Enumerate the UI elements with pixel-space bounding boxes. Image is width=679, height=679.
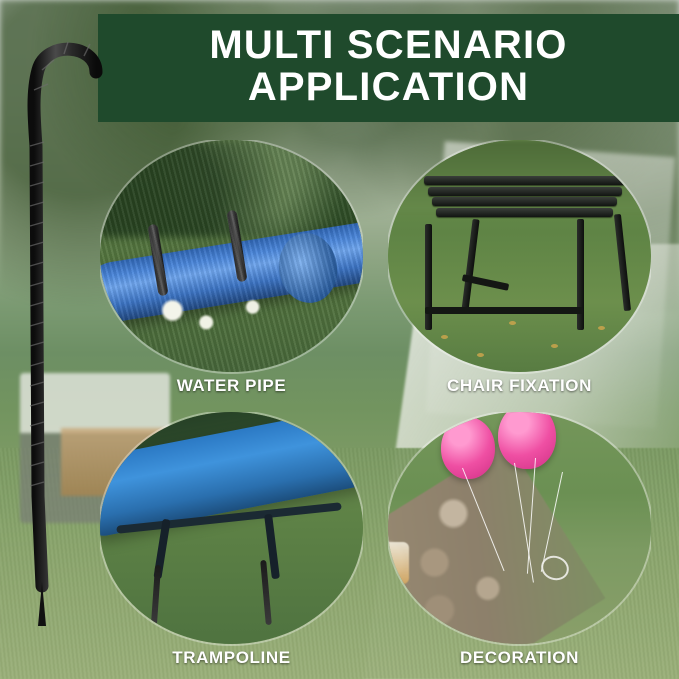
poster-image: MULTI SCENARIO APPLICATION (0, 0, 679, 679)
caption-trampoline: TRAMPOLINE (100, 648, 363, 668)
title-banner: MULTI SCENARIO APPLICATION (98, 14, 679, 122)
tile-decoration: DECORATION (388, 412, 651, 674)
photo-decoration (388, 412, 651, 644)
photo-chair-fixation (388, 140, 651, 372)
tile-water-pipe: WATER PIPE (100, 140, 363, 402)
tile-chair-fixation: CHAIR FIXATION (388, 140, 651, 402)
photo-water-pipe (100, 140, 363, 372)
title-line-1: MULTI SCENARIO (209, 24, 567, 66)
tile-trampoline: TRAMPOLINE (100, 412, 363, 674)
caption-water-pipe: WATER PIPE (100, 376, 363, 396)
caption-chair-fixation: CHAIR FIXATION (388, 376, 651, 396)
photo-trampoline (100, 412, 363, 644)
title-line-2: APPLICATION (248, 66, 529, 108)
caption-decoration: DECORATION (388, 648, 651, 668)
